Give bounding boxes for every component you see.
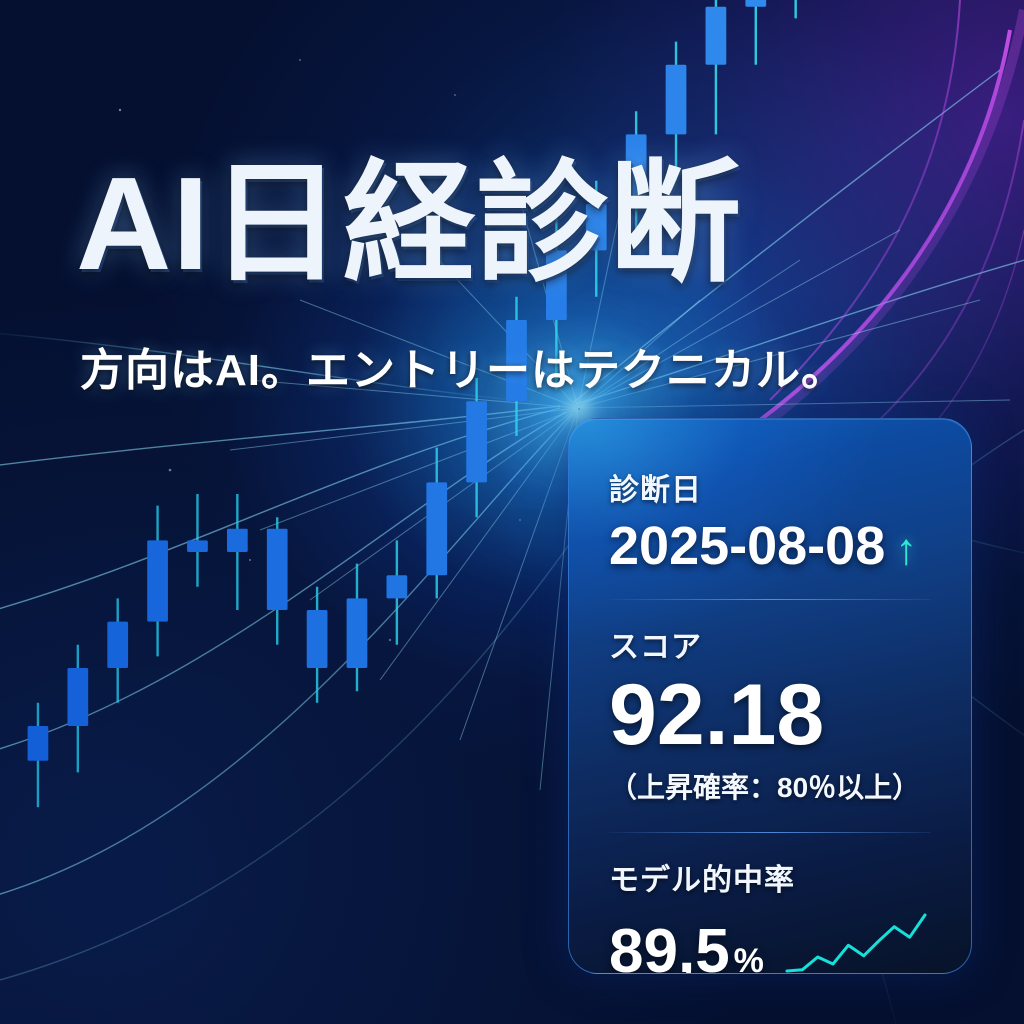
diagnosis-card: 診断日 2025-08-08 ↑ スコア 92.18 （上昇確率：80％以上） … — [568, 418, 972, 974]
score-value: 92.18 — [609, 672, 931, 758]
diagnosis-date-label: 診断日 — [609, 465, 931, 509]
score-note: （上昇確率：80％以上） — [609, 766, 931, 806]
model-accuracy-label: モデル的中率 — [609, 855, 931, 899]
score-label: スコア — [609, 622, 931, 666]
diagnosis-date-text: 2025-08-08 — [609, 519, 885, 573]
divider-1 — [609, 599, 931, 600]
trend-up-arrow-icon: ↑ — [895, 528, 917, 572]
model-accuracy-row: 89,5 % — [609, 905, 931, 974]
center-glow-burst — [578, 408, 580, 410]
page-subtitle: 方向はAI。エントリーはテクニカル。 — [80, 334, 940, 398]
diagnosis-date-value: 2025-08-08 ↑ — [609, 519, 931, 573]
model-accuracy-value: 89,5 % — [609, 921, 764, 974]
page-title: AI日経診断 — [76, 150, 956, 298]
accuracy-sparkline — [781, 905, 931, 974]
poster-canvas: AI日経診断 方向はAI。エントリーはテクニカル。 診断日 2025-08-08… — [0, 0, 1024, 1024]
percent-sign: % — [734, 944, 764, 974]
divider-2 — [609, 832, 931, 833]
model-accuracy-number: 89,5 — [609, 921, 730, 974]
